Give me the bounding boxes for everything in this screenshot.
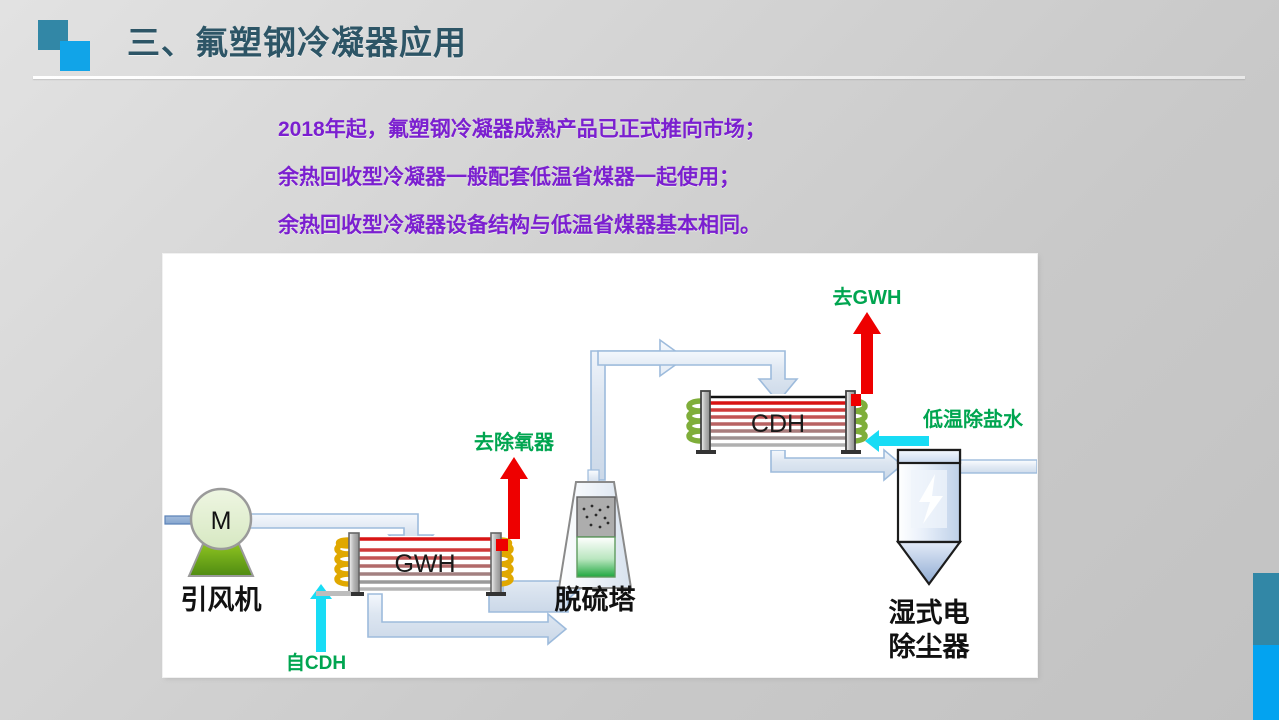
to-gwh-label: 去GWH	[833, 285, 902, 309]
to-deaerator-label: 去除氧器	[474, 430, 555, 454]
bullet-item-1: 2018年起，氟塑钢冷凝器成熟产品已正式推向市场；	[278, 106, 1038, 154]
process-diagram-panel: M 引风机	[163, 254, 1037, 677]
cdh-label: CDH	[751, 410, 805, 438]
equipment-wet-esp: 湿式电 除尘器	[889, 450, 971, 662]
corner-accent-blue	[1253, 645, 1279, 720]
slide-root: 三、氟塑钢冷凝器应用 2018年起，氟塑钢冷凝器成熟产品已正式推向市场； 余热回…	[0, 0, 1279, 720]
wesp-label-line2: 除尘器	[889, 631, 971, 662]
fan-badge-label: M	[211, 507, 232, 535]
fan-label: 引风机	[181, 585, 262, 615]
cdh-left-coil-icon	[689, 401, 701, 441]
equipment-desulfurization-tower: 脱硫塔	[555, 482, 637, 615]
bullet-list: 2018年起，氟塑钢冷凝器成熟产品已正式推向市场； 余热回收型冷凝器一般配套低温…	[278, 106, 1038, 250]
from-cdh-label: 自CDH	[286, 651, 346, 674]
title-divider	[33, 76, 1245, 79]
bullet-item-3: 余热回收型冷凝器设备结构与低温省煤器基本相同。	[278, 202, 1038, 250]
gwh-label: GWH	[394, 550, 455, 578]
wesp-label-line1: 湿式电	[889, 598, 970, 628]
equipment-induced-draft-fan: M 引风机	[181, 489, 262, 615]
demin-water-label: 低温除盐水	[922, 407, 1024, 431]
tower-label: 脱硫塔	[555, 584, 637, 615]
gwh-left-coil-icon	[337, 540, 349, 584]
equipment-cdh-heat-exchanger: CDH	[689, 391, 865, 454]
from-cdh-arrow-icon	[310, 584, 351, 652]
logo-square-blue-icon	[60, 41, 90, 71]
page-title: 三、氟塑钢冷凝器应用	[127, 16, 467, 64]
corner-accent-bar	[1253, 573, 1279, 720]
demin-water-arrow-icon	[865, 430, 929, 452]
bullet-item-2: 余热回收型冷凝器一般配套低温省煤器一起使用；	[278, 154, 1038, 202]
corner-accent-teal	[1253, 573, 1279, 645]
equipment-gwh-heat-exchanger: GWH	[337, 533, 511, 596]
